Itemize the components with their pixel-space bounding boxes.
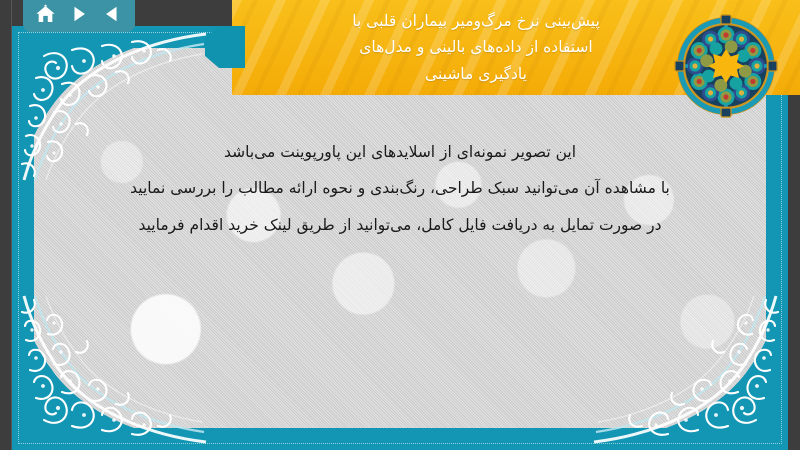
- next-slide-button[interactable]: [65, 1, 93, 27]
- body-line-2: با مشاهده آن می‌توانید سبک طراحی، رنگ‌بن…: [52, 170, 748, 206]
- page-title: پیش‌بینی نرخ مرگ‌ومیر بیماران قلبی با اس…: [328, 8, 704, 88]
- home-icon: [35, 4, 56, 25]
- body-line-3: در صورت تمایل به دریافت فایل کامل، می‌تو…: [52, 207, 748, 243]
- slide-body: این تصویر نمونه‌ای از اسلایدهای این پاور…: [52, 134, 748, 243]
- body-line-1: این تصویر نمونه‌ای از اسلایدهای این پاور…: [52, 134, 748, 170]
- triangle-left-icon: [102, 4, 122, 24]
- navigation-toolbar: [23, 0, 135, 32]
- previous-slide-button[interactable]: [98, 1, 126, 27]
- title-line-2: استفاده از داده‌های بالینی و مدل‌های: [352, 34, 600, 61]
- persian-mandala-medallion-icon: [674, 14, 778, 118]
- slide-viewer: این تصویر نمونه‌ای از اسلایدهای این پاور…: [0, 0, 800, 450]
- title-line-1: پیش‌بینی نرخ مرگ‌ومیر بیماران قلبی با: [352, 8, 600, 35]
- title-line-3: یادگیری ماشینی: [352, 61, 600, 88]
- triangle-right-icon: [69, 4, 89, 24]
- home-button[interactable]: [32, 1, 60, 27]
